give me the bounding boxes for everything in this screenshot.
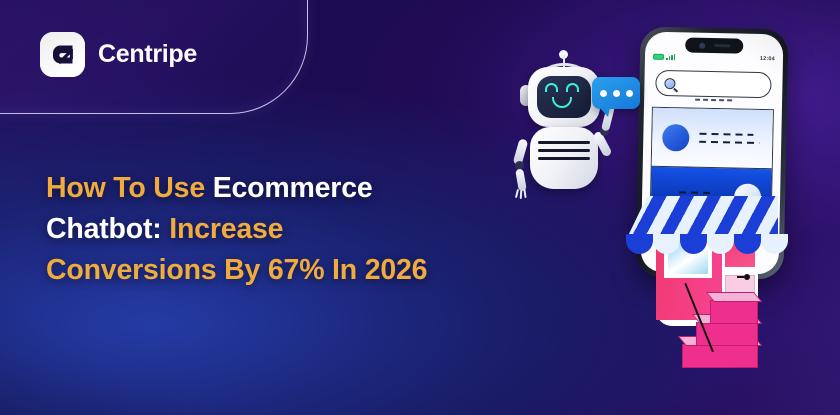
title-segment-white-2: Chatbot: [46, 213, 169, 245]
typing-indicator-bubble [592, 77, 640, 109]
robot-eye-left [545, 83, 558, 92]
title-segment-gold-3: Conversions By 67% In 2026 [46, 254, 427, 286]
page-title: How To Use Ecommerce Chatbot: Increase C… [46, 168, 526, 291]
phone-status-bar: 12:04 [645, 52, 783, 64]
title-line-3: Conversions By 67% In 2026 [46, 250, 526, 291]
signal-icon [666, 54, 675, 60]
brand-logo[interactable]: Centripe [40, 32, 197, 77]
chatbot-mascot [504, 55, 629, 220]
title-segment-white: Ecommerce [213, 172, 373, 204]
search-input[interactable] [655, 70, 772, 98]
phone-notch [685, 37, 743, 53]
title-segment-gold: How To Use [46, 172, 213, 204]
hero-illustration: 12:04 [498, 0, 840, 415]
product-text-lines [699, 133, 762, 144]
status-left-icons [653, 53, 675, 59]
title-line-1: How To Use Ecommerce [46, 168, 526, 209]
robot-finger [520, 190, 523, 199]
product-thumbnail [662, 123, 690, 151]
robot-finger [523, 189, 526, 198]
title-segment-gold-2: Increase [169, 213, 283, 245]
blog-hero-banner: Centripe How To Use Ecommerce Chatbot: I… [0, 0, 840, 415]
battery-icon [653, 53, 664, 59]
typing-dots-icon [592, 77, 640, 109]
loading-dashes [644, 98, 782, 102]
product-card-row[interactable] [652, 108, 773, 169]
robot-finger [515, 189, 519, 198]
front-camera-icon [699, 42, 705, 48]
robot-eye-right [566, 83, 579, 92]
centripe-arrow-logo-icon [40, 32, 85, 77]
search-icon [664, 77, 675, 88]
door-handle-icon [744, 274, 750, 280]
title-line-2: Chatbot: Increase [46, 209, 526, 250]
storefront-illustration [626, 196, 778, 346]
earpiece-speaker-icon [714, 44, 730, 47]
robot-torso [530, 127, 598, 189]
status-clock: 12:04 [760, 55, 775, 61]
brand-name: Centripe [98, 40, 197, 69]
awning-scallops [626, 234, 788, 254]
